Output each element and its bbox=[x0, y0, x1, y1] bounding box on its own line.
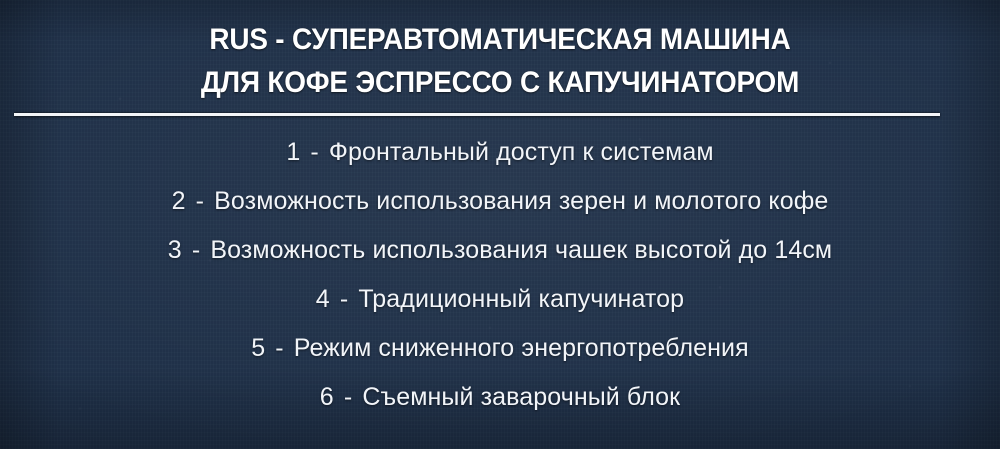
list-item-label: Возможность использования чашек высотой … bbox=[210, 236, 832, 264]
list-item: 4 - Традиционный капучинатор bbox=[0, 275, 1000, 324]
slide-heading: RUS - СУПЕРАВТОМАТИЧЕСКАЯ МАШИНА ДЛЯ КОФ… bbox=[0, 20, 1000, 103]
heading-divider-rule bbox=[14, 113, 940, 116]
feature-list: 1 - Фронтальный доступ к системам 2 - Во… bbox=[0, 128, 1000, 422]
list-item-number: 5 bbox=[251, 334, 265, 362]
list-item-label: Режим сниженного энергопотребления bbox=[294, 334, 749, 362]
list-item-number: 1 bbox=[286, 138, 300, 166]
list-item-label: Фронтальный доступ к системам bbox=[329, 138, 714, 166]
list-item: 6 - Съемный заварочный блок bbox=[0, 373, 1000, 422]
list-item-separator: - bbox=[337, 285, 351, 313]
list-item-separator: - bbox=[272, 334, 286, 362]
page-title-line-2: ДЛЯ КОФЕ ЭСПРЕССО С КАПУЧИНАТОРОМ bbox=[35, 63, 965, 103]
list-item-number: 3 bbox=[168, 236, 182, 264]
list-item: 3 - Возможность использования чашек высо… bbox=[0, 226, 1000, 275]
presentation-slide: RUS - СУПЕРАВТОМАТИЧЕСКАЯ МАШИНА ДЛЯ КОФ… bbox=[0, 0, 1000, 449]
page-title-line-1: RUS - СУПЕРАВТОМАТИЧЕСКАЯ МАШИНА bbox=[35, 20, 965, 60]
list-item-separator: - bbox=[307, 138, 321, 166]
list-item-label: Традиционный капучинатор bbox=[358, 285, 684, 313]
list-item-label: Съемный заварочный блок bbox=[362, 383, 680, 411]
list-item: 5 - Режим сниженного энергопотребления bbox=[0, 324, 1000, 373]
list-item: 1 - Фронтальный доступ к системам bbox=[0, 128, 1000, 177]
list-item-separator: - bbox=[341, 383, 355, 411]
list-item-separator: - bbox=[193, 187, 207, 215]
list-item-number: 2 bbox=[172, 187, 186, 215]
list-item-separator: - bbox=[189, 236, 203, 264]
list-item-number: 4 bbox=[316, 285, 330, 313]
list-item: 2 - Возможность использования зерен и мо… bbox=[0, 177, 1000, 226]
list-item-number: 6 bbox=[320, 383, 334, 411]
list-item-label: Возможность использования зерен и молото… bbox=[214, 187, 828, 215]
